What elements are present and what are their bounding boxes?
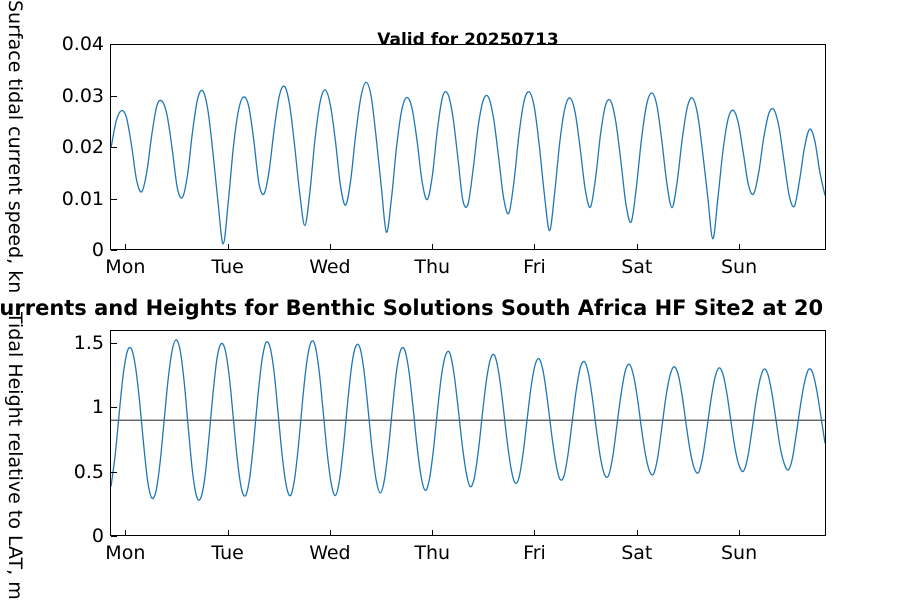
bottom-chart-xtick-label: Wed	[309, 542, 350, 564]
top-chart-xtick-label: Sat	[621, 256, 652, 278]
top-chart-xtick-mark	[125, 244, 126, 250]
bottom-chart-xtick-label: Mon	[105, 542, 145, 564]
top-chart-xtick-label: Tue	[211, 256, 243, 278]
top-chart-series-line-0	[111, 82, 825, 244]
bottom-chart-xtick-label: Sat	[621, 542, 652, 564]
top-chart-xtick-mark	[432, 244, 433, 250]
bottom-chart-xtick-mark	[432, 530, 433, 536]
top-chart-xtick-label: Fri	[523, 256, 546, 278]
bottom-chart-ytick-mark	[111, 407, 117, 408]
bottom-chart-xtick-mark	[739, 530, 740, 536]
bottom-axes-ylabel: Tidal Height relative to LAT, m	[4, 312, 26, 600]
top-chart-ytick-mark	[111, 250, 117, 251]
bottom-chart-ytick-mark	[111, 343, 117, 344]
top-chart-axes	[110, 44, 826, 250]
bottom-chart-xtick-label: Fri	[523, 542, 546, 564]
top-chart-xtick-mark	[534, 244, 535, 250]
top-chart-ytick-label: 0.01	[0, 188, 104, 210]
top-chart-xtick-label: Mon	[105, 256, 145, 278]
bottom-chart-xtick-label: Thu	[414, 542, 450, 564]
top-chart-ytick-mark	[111, 96, 117, 97]
top-chart-xtick-mark	[330, 244, 331, 250]
bottom-chart-xtick-mark	[330, 530, 331, 536]
top-chart-ytick-label: 0	[0, 239, 104, 261]
top-chart-ytick-mark	[111, 147, 117, 148]
top-chart-ytick-label: 0.02	[0, 136, 104, 158]
bottom-chart-ytick-mark	[111, 536, 117, 537]
bottom-chart-xtick-mark	[125, 530, 126, 536]
top-chart-plot-area	[111, 45, 825, 249]
top-chart-ytick-mark	[111, 44, 117, 45]
top-chart-xtick-mark	[228, 244, 229, 250]
bottom-chart-ytick-label: 0.5	[0, 461, 104, 483]
figure-root: Currents and Heights for Benthic Solutio…	[0, 0, 900, 600]
top-chart-xtick-mark	[739, 244, 740, 250]
top-chart-xtick-label: Sun	[721, 256, 757, 278]
bottom-chart-xtick-label: Tue	[211, 542, 243, 564]
top-chart-ytick-label: 0.04	[0, 33, 104, 55]
top-chart-xtick-label: Wed	[309, 256, 350, 278]
bottom-chart-axes	[110, 330, 826, 536]
bottom-chart-plot-area	[111, 331, 825, 535]
bottom-chart-ytick-mark	[111, 472, 117, 473]
bottom-chart-xtick-mark	[228, 530, 229, 536]
bottom-chart-ytick-label: 0	[0, 525, 104, 547]
top-chart-xtick-label: Thu	[414, 256, 450, 278]
bottom-chart-xtick-label: Sun	[721, 542, 757, 564]
figure-main-title: Currents and Heights for Benthic Solutio…	[0, 296, 823, 320]
bottom-chart-ytick-label: 1.5	[0, 332, 104, 354]
bottom-chart-ytick-label: 1	[0, 396, 104, 418]
top-chart-ytick-mark	[111, 199, 117, 200]
bottom-chart-xtick-mark	[534, 530, 535, 536]
top-chart-xtick-mark	[637, 244, 638, 250]
bottom-chart-xtick-mark	[637, 530, 638, 536]
top-chart-ytick-label: 0.03	[0, 85, 104, 107]
